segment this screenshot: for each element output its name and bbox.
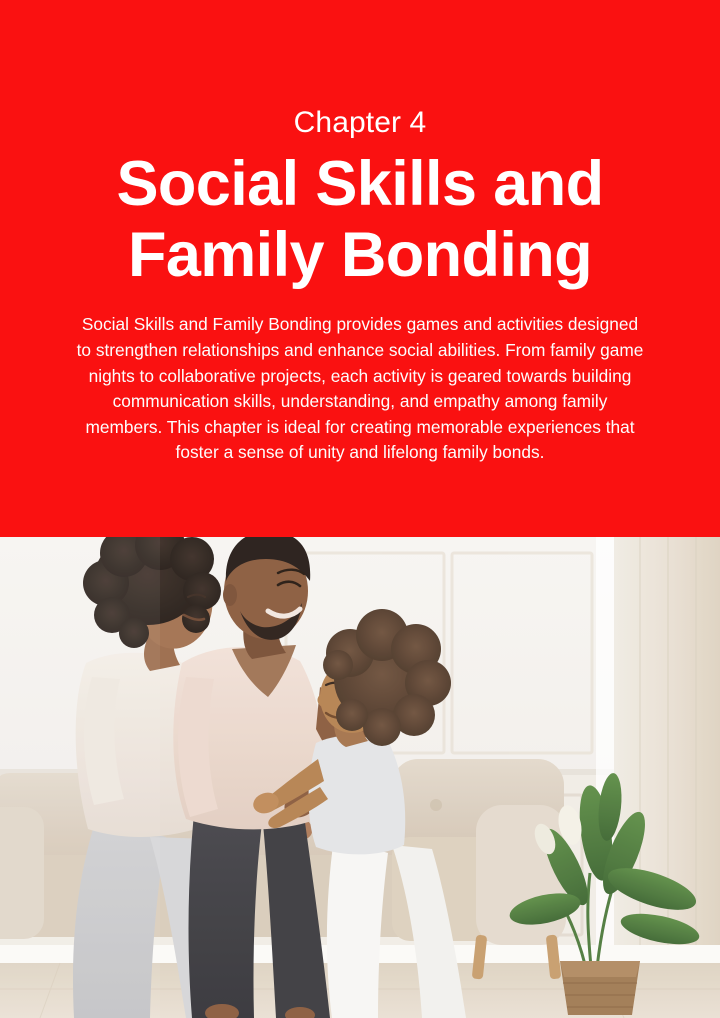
chapter-photo xyxy=(0,537,720,1018)
chapter-number-label: Chapter 4 xyxy=(294,105,427,140)
page-title: Social Skills and Family Bonding xyxy=(116,149,603,291)
chapter-cover-page: Chapter 4 Social Skills and Family Bondi… xyxy=(0,0,720,1018)
family-dancing-photo xyxy=(0,537,720,1018)
chapter-description: Social Skills and Family Bonding provide… xyxy=(75,312,645,466)
chapter-hero-panel: Chapter 4 Social Skills and Family Bondi… xyxy=(0,0,720,537)
